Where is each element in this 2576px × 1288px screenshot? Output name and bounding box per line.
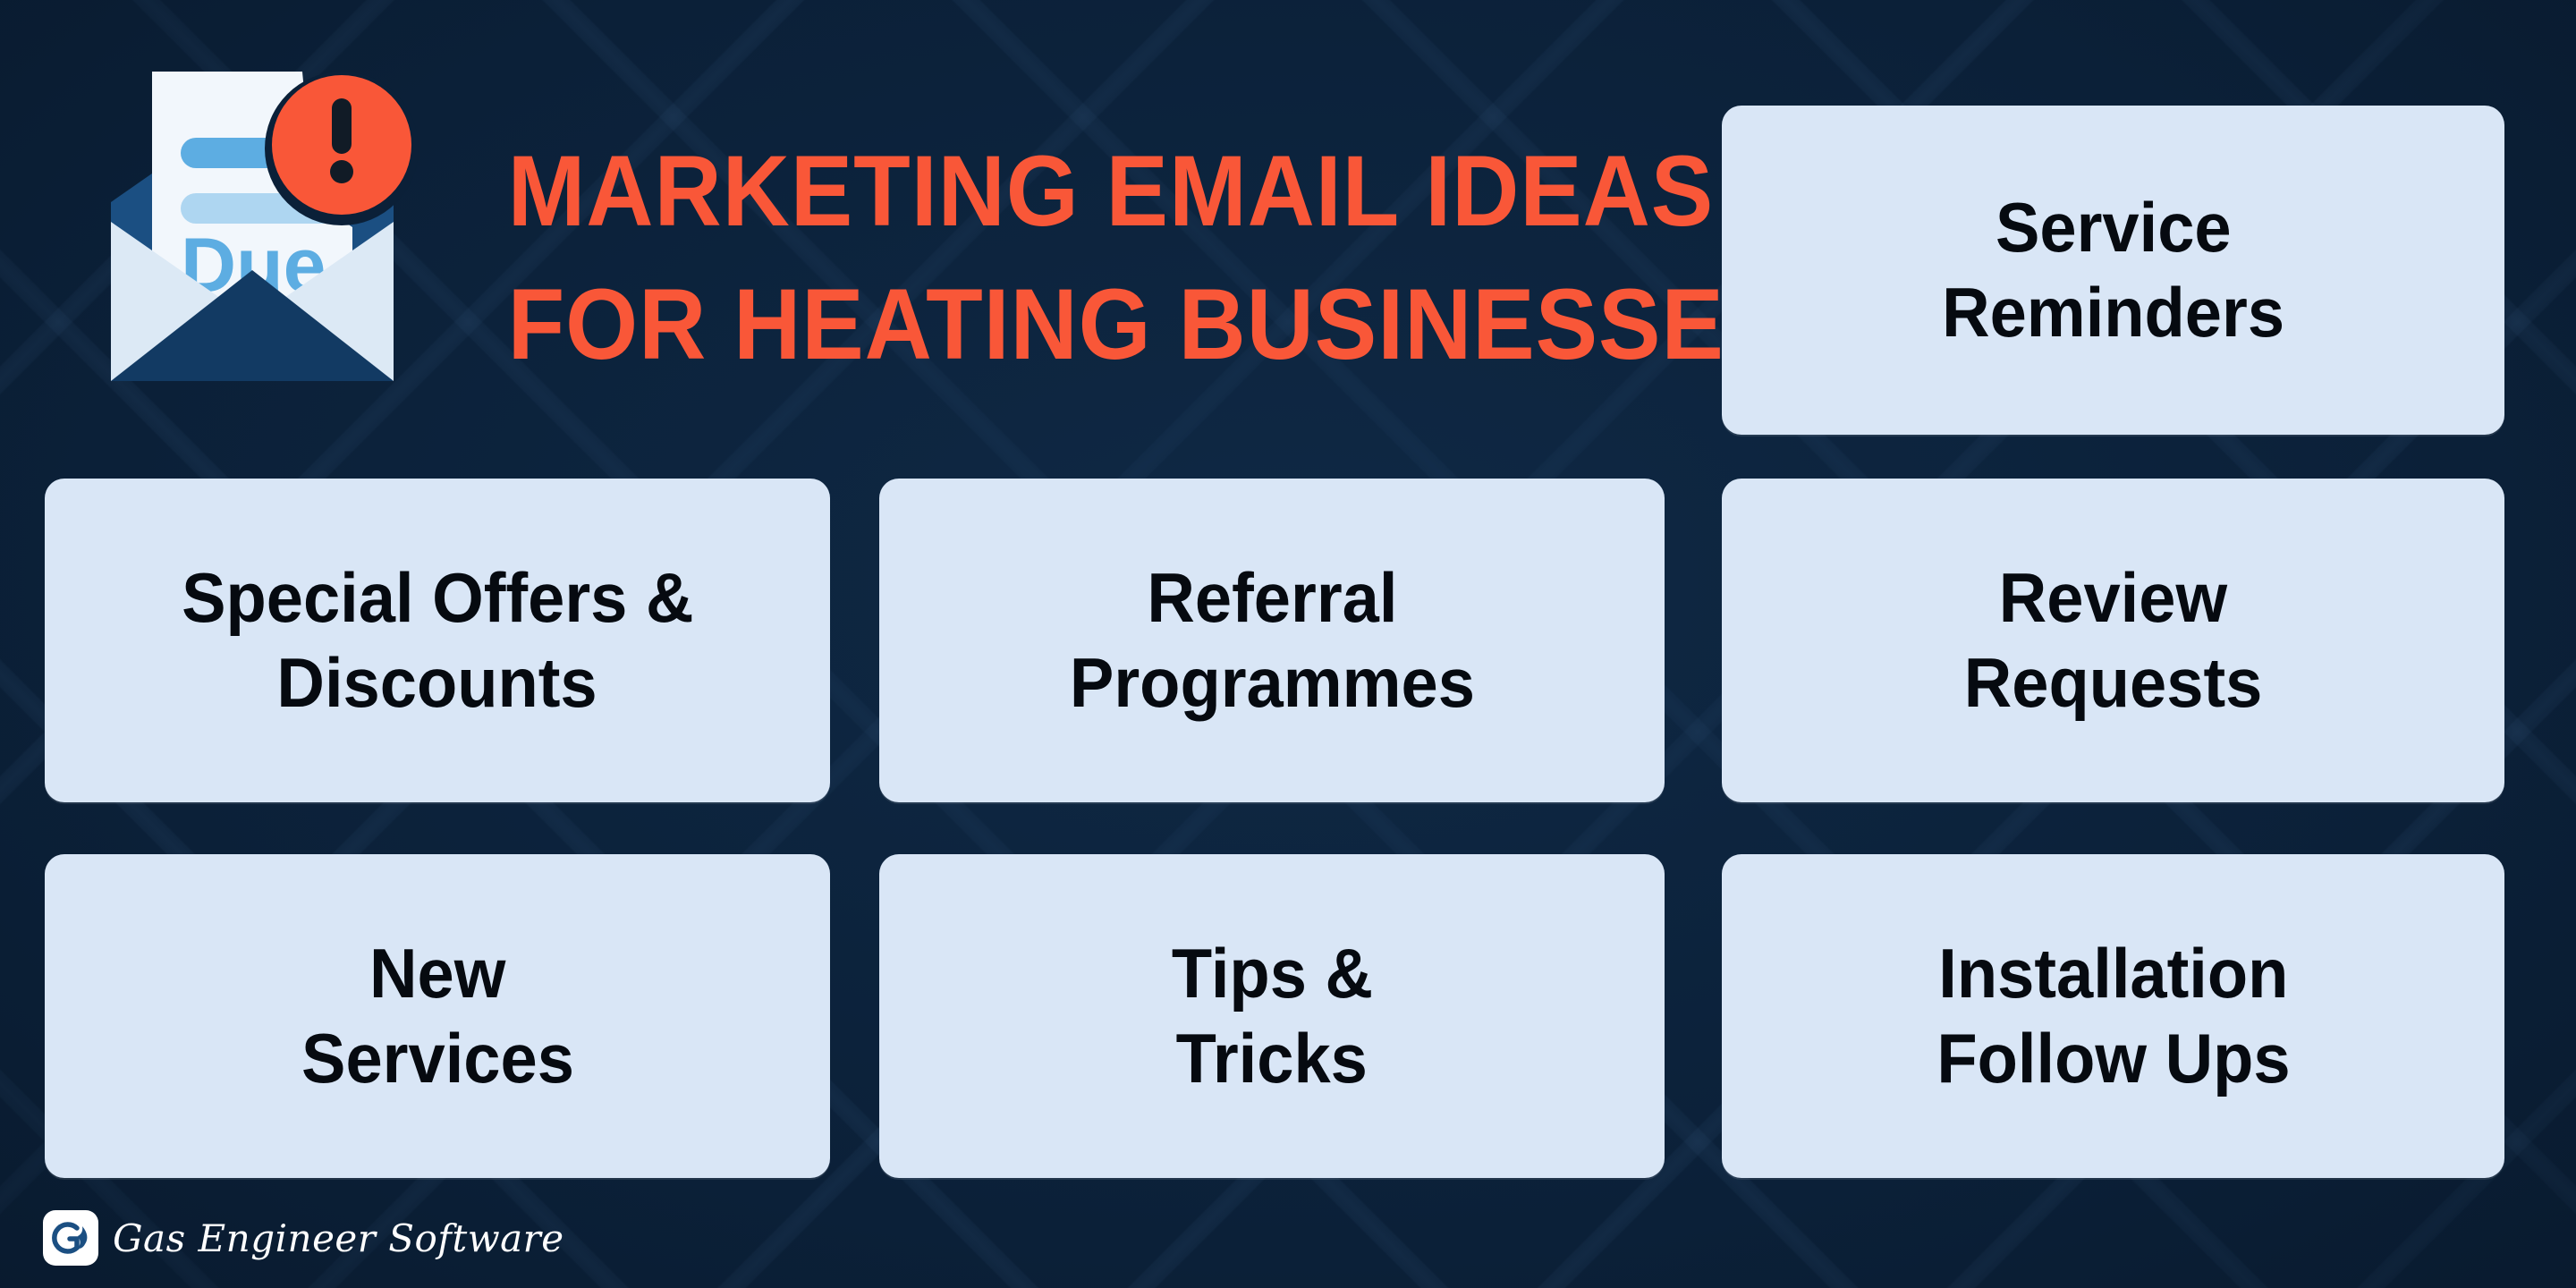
card-label-line-1: Tips & xyxy=(1171,931,1372,1016)
brand-name: Gas Engineer Software xyxy=(113,1216,564,1260)
page-title-line-1: MARKETING EMAIL IDEAS xyxy=(508,125,1640,258)
card-label-line-1: Installation xyxy=(1938,931,2288,1016)
infographic-canvas: Due MARKETING EMAIL IDEAS FOR HEATING BU… xyxy=(0,0,2576,1288)
card-service-reminders[interactable]: Service Reminders xyxy=(1722,106,2504,435)
header-region: Due MARKETING EMAIL IDEAS FOR HEATING BU… xyxy=(0,0,1699,429)
card-label-line-2: Tricks xyxy=(1176,1016,1368,1101)
card-label-line-2: Requests xyxy=(1964,640,2263,725)
card-installation-follow-ups[interactable]: Installation Follow Ups xyxy=(1722,854,2504,1178)
card-tips-and-tricks[interactable]: Tips & Tricks xyxy=(879,854,1665,1178)
gas-engineer-flame-g-icon xyxy=(43,1210,98,1266)
card-label-line-2: Discounts xyxy=(277,640,597,725)
card-special-offers-discounts[interactable]: Special Offers & Discounts xyxy=(45,479,830,802)
card-label-line-1: Review xyxy=(1999,555,2227,640)
card-label-line-1: Special Offers & xyxy=(182,555,693,640)
card-referral-programmes[interactable]: Referral Programmes xyxy=(879,479,1665,802)
card-label-line-1: New xyxy=(369,931,505,1016)
card-label-line-1: Referral xyxy=(1147,555,1397,640)
card-review-requests[interactable]: Review Requests xyxy=(1722,479,2504,802)
card-label-line-1: Service xyxy=(1996,185,2232,270)
card-label-line-2: Reminders xyxy=(1942,270,2284,355)
card-label-line-2: Services xyxy=(301,1016,574,1101)
page-title: MARKETING EMAIL IDEAS FOR HEATING BUSINE… xyxy=(465,125,1682,392)
open-envelope-with-due-notice-icon: Due xyxy=(82,52,422,410)
page-title-line-2: FOR HEATING BUSINESSES xyxy=(508,258,1640,392)
card-label-line-2: Follow Ups xyxy=(1936,1016,2290,1101)
card-new-services[interactable]: New Services xyxy=(45,854,830,1178)
brand-logo: Gas Engineer Software xyxy=(43,1206,564,1270)
card-label-line-2: Programmes xyxy=(1069,640,1474,725)
